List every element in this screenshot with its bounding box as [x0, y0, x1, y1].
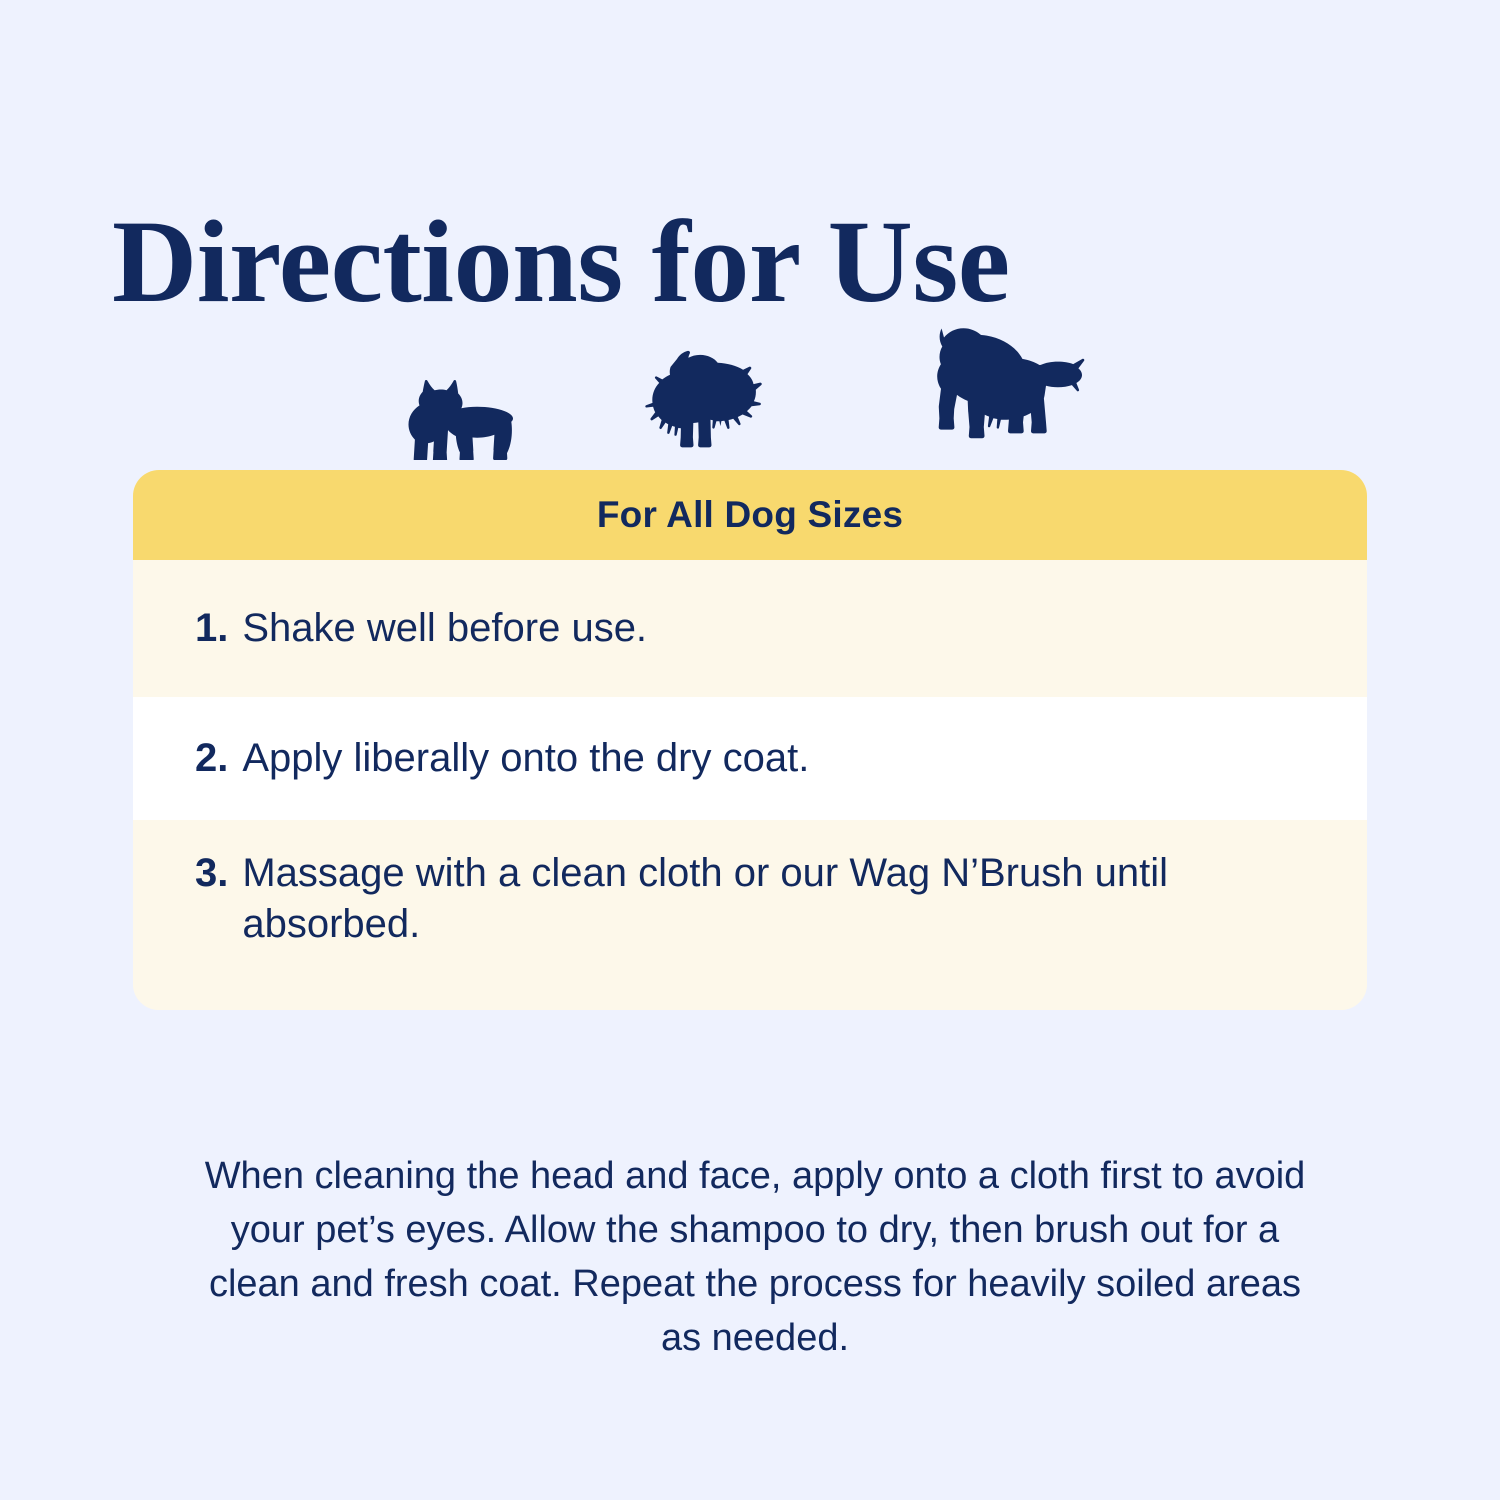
step-row-1: 1. Shake well before use. — [133, 560, 1367, 697]
directions-card: For All Dog Sizes 1. Shake well before u… — [133, 470, 1367, 1010]
step-number-3: 3. — [195, 848, 228, 899]
dog-sizes-illustration — [0, 300, 1500, 460]
footer-note: When cleaning the head and face, apply o… — [200, 1150, 1310, 1366]
step-number-2: 2. — [195, 733, 228, 784]
medium-dog-silhouette-icon — [639, 350, 789, 460]
directions-for-use-page: Directions for Use For All Dog Sizes 1. … — [0, 0, 1500, 1500]
card-header-title: For All Dog Sizes — [597, 494, 903, 536]
step-text-3: Massage with a clean cloth or our Wag N’… — [242, 848, 1302, 950]
large-dog-silhouette-icon — [915, 328, 1095, 460]
step-row-2: 2. Apply liberally onto the dry coat. — [133, 697, 1367, 820]
small-dog-silhouette-icon — [405, 380, 513, 460]
card-header: For All Dog Sizes — [133, 470, 1367, 560]
step-text-1: Shake well before use. — [242, 603, 1305, 654]
step-number-1: 1. — [195, 603, 228, 654]
step-row-3: 3. Massage with a clean cloth or our Wag… — [133, 820, 1367, 1010]
step-text-2: Apply liberally onto the dry coat. — [242, 733, 1305, 784]
